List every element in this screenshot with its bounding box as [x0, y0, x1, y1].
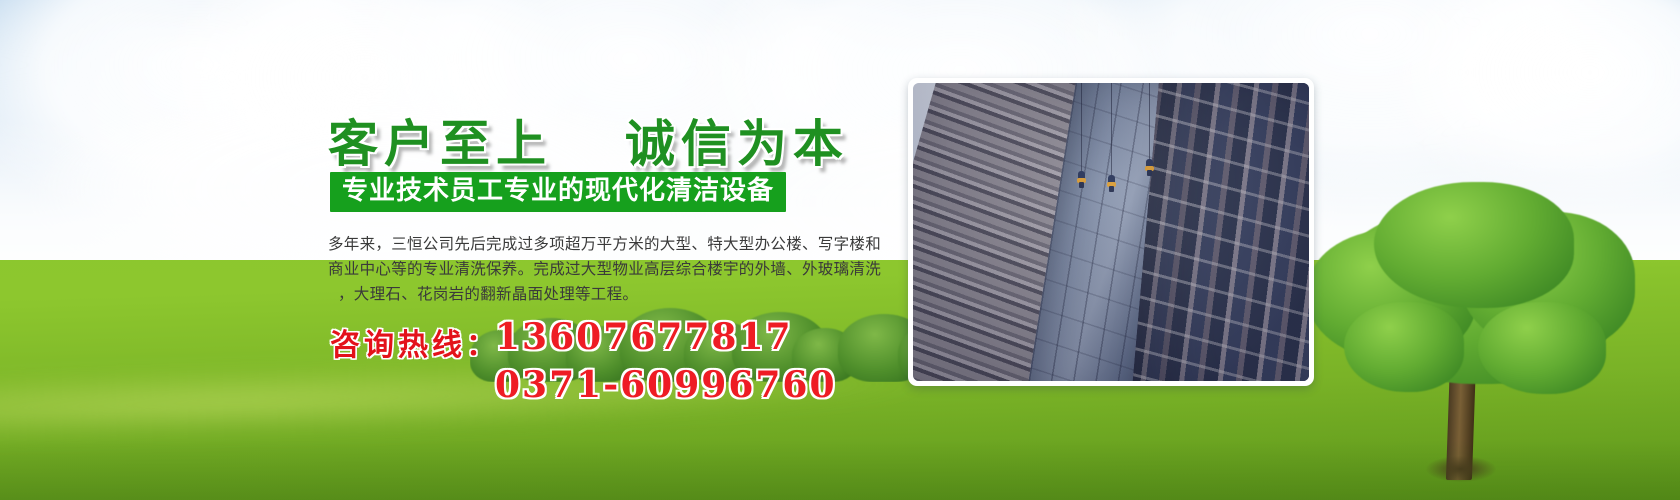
building-photo-frame[interactable] — [908, 78, 1314, 386]
tree-canopy — [1478, 302, 1606, 394]
photo-vignette — [913, 83, 1309, 381]
tree-root — [1426, 456, 1496, 482]
phone-number-secondary[interactable]: 0371-60996760 — [495, 364, 837, 406]
promo-banner: 客户至上 诚信为本 专业技术员工专业的现代化清洁设备 多年来，三恒公司先后完成过… — [0, 0, 1680, 500]
headline-part-2: 诚信为本 — [625, 114, 849, 173]
banner-text-column: 客户至上 诚信为本 专业技术员工专业的现代化清洁设备 多年来，三恒公司先后完成过… — [0, 0, 910, 500]
hotline-label: 咨询热线： — [330, 320, 500, 364]
paragraph-line-3: ，大理石、花岗岩的翻新晶面处理等工程。 — [328, 282, 928, 307]
tree-icon — [1300, 160, 1640, 480]
building-photo — [913, 83, 1309, 381]
paragraph-line-2: 商业中心等的专业清洗保养。完成过大型物业高层综合楼宇的外墙、外玻璃清洗 — [328, 257, 928, 282]
phone-number-primary[interactable]: 13607677817 — [495, 316, 793, 358]
subtitle-bar: 专业技术员工专业的现代化清洁设备 — [330, 172, 786, 212]
description-paragraph: 多年来，三恒公司先后完成过多项超万平方米的大型、特大型办公楼、写字楼和 商业中心… — [328, 232, 928, 307]
paragraph-line-1: 多年来，三恒公司先后完成过多项超万平方米的大型、特大型办公楼、写字楼和 — [328, 232, 928, 257]
subtitle-text: 专业技术员工专业的现代化清洁设备 — [342, 176, 774, 206]
tree-canopy — [1344, 302, 1464, 392]
headline-part-1: 客户至上 — [328, 114, 552, 173]
tree-canopy — [1374, 182, 1574, 308]
headline: 客户至上 诚信为本 — [328, 104, 849, 176]
